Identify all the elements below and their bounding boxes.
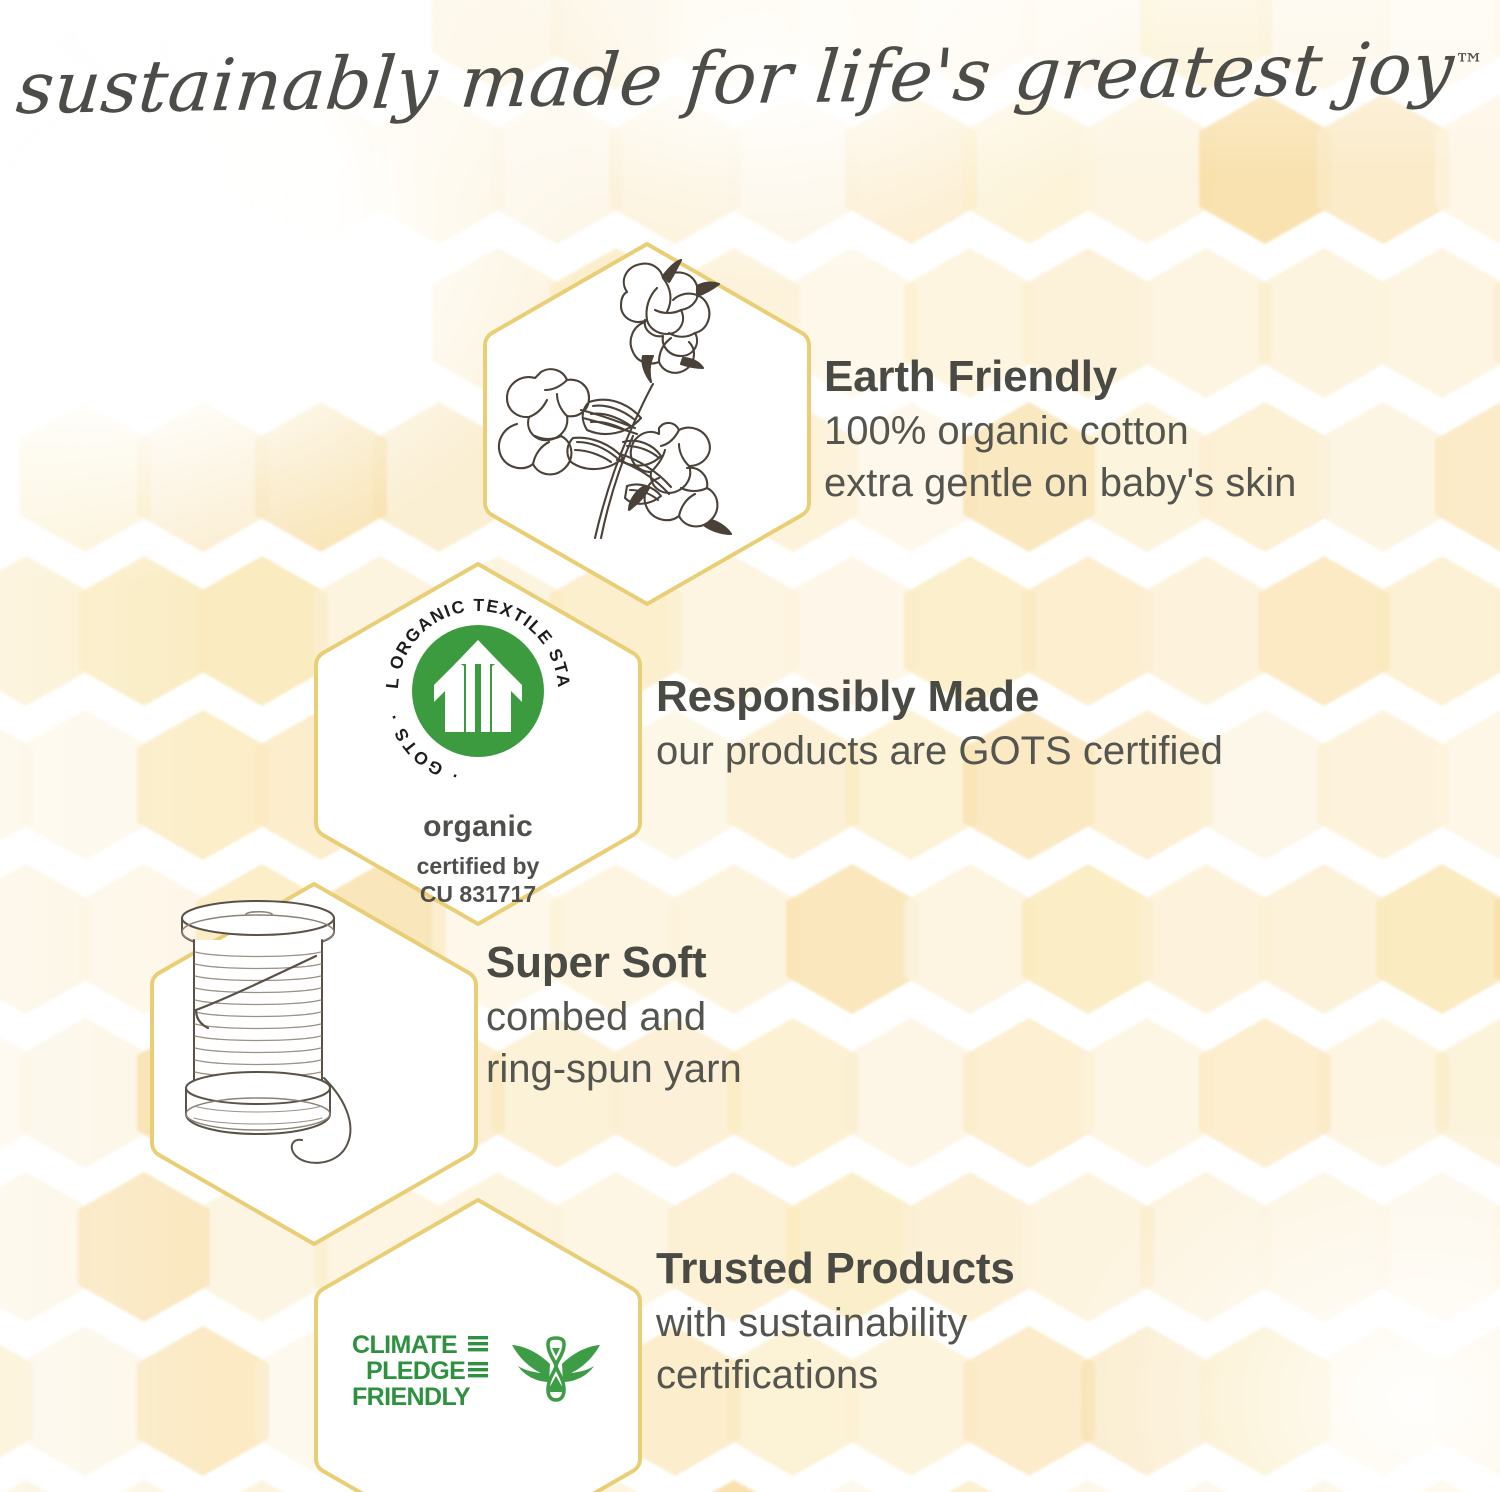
feature-text-earth-friendly: Earth Friendly 100% organic cotton extra… <box>824 352 1296 509</box>
feature-body-line: 100% organic cotton <box>824 405 1296 457</box>
climate-pledge-wordmark: CLIMATE PLEDGE FRIENDLY <box>352 1331 490 1415</box>
cotton-branch-icon <box>477 238 777 548</box>
gots-organic-label: organic <box>423 810 533 844</box>
headline-text: sustainably made for life's greatest joy <box>13 26 1457 130</box>
feature-body-line: with sustainability <box>656 1297 1015 1349</box>
hexagon-card-trusted-products: CLIMATE PLEDGE FRIENDLY <box>308 1194 648 1492</box>
feature-body-line: certifications <box>656 1349 1015 1401</box>
climate-pledge-friendly-logo: CLIMATE PLEDGE FRIENDLY <box>352 1331 604 1415</box>
feature-title: Earth Friendly <box>824 352 1296 401</box>
feature-body-line: our products are GOTS certified <box>656 725 1223 777</box>
gots-certification-seal: GLOBAL ORGANIC TEXTILE STANDARD · GOTS ·… <box>371 584 585 908</box>
gots-logo-circle: GLOBAL ORGANIC TEXTILE STANDARD · GOTS · <box>371 584 585 798</box>
feature-body-line: ring-spun yarn <box>486 1043 742 1095</box>
feature-text-responsibly-made: Responsibly Made our products are GOTS c… <box>656 672 1223 777</box>
feature-text-super-soft: Super Soft combed and ring-spun yarn <box>486 938 742 1095</box>
thread-spool-icon <box>138 878 428 1178</box>
gots-certified-by-label: certified by <box>417 852 540 880</box>
hexagon-card-earth-friendly <box>477 238 817 610</box>
feature-title: Trusted Products <box>656 1244 1015 1293</box>
sustainability-infographic: sustainably made for life's greatest joy… <box>0 0 1500 1492</box>
cpf-line-1: CLIMATE <box>352 1331 457 1359</box>
page-headline: sustainably made for life's greatest joy… <box>0 36 1500 120</box>
trademark-symbol: ™ <box>1454 48 1484 83</box>
feature-text-trusted-products: Trusted Products with sustainability cer… <box>656 1244 1015 1401</box>
winged-hourglass-icon <box>508 1334 604 1412</box>
feature-body-line: extra gentle on baby's skin <box>824 457 1296 509</box>
feature-title: Responsibly Made <box>656 672 1223 721</box>
cpf-line-2: PLEDGE <box>366 1357 465 1385</box>
hexagon-card-responsibly-made: GLOBAL ORGANIC TEXTILE STANDARD · GOTS ·… <box>308 558 648 930</box>
cpf-line-3: FRIENDLY <box>352 1383 471 1411</box>
feature-body-line: combed and <box>486 991 742 1043</box>
feature-title: Super Soft <box>486 938 742 987</box>
